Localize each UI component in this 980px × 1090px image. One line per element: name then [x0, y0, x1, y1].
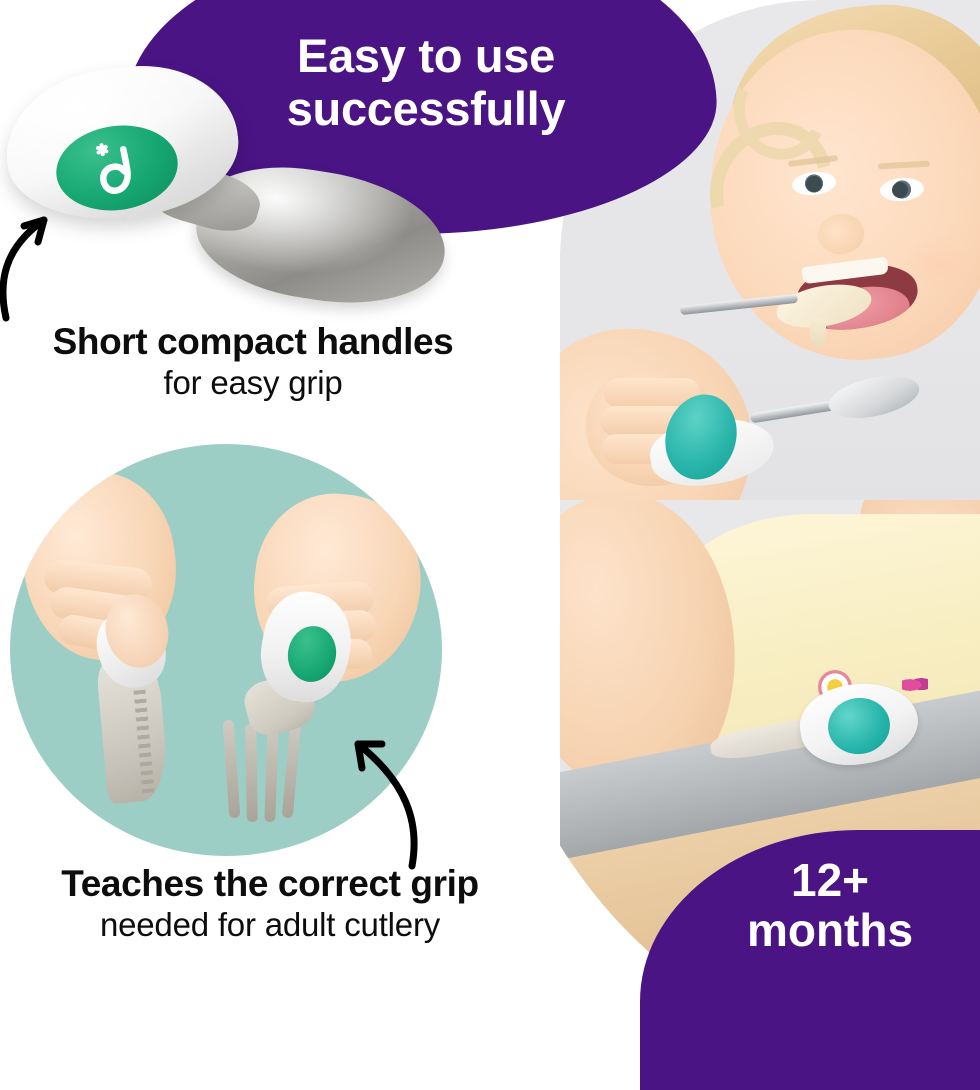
age-badge-text: 12+ months: [700, 856, 960, 955]
caption-1-regular: for easy grip: [0, 363, 506, 403]
caption-short-compact-handles: Short compact handles for easy grip: [0, 322, 506, 402]
headline-text: Easy to use successfully: [196, 30, 656, 135]
fork-tine: [245, 724, 258, 822]
caption-2-bold: Teaches the correct grip: [0, 864, 540, 905]
fork-tine: [264, 724, 278, 822]
child-pupil-right: [892, 182, 908, 198]
shirt-butterfly-icon: [902, 676, 928, 694]
caption-teaches-correct-grip: Teaches the correct grip needed for adul…: [0, 864, 540, 944]
food-drip: [810, 318, 826, 348]
fork-tine: [282, 720, 301, 819]
headline-line-2: successfully: [196, 83, 656, 136]
caption-1-bold: Short compact handles: [0, 322, 506, 363]
caption-2-regular: needed for adult cutlery: [0, 905, 540, 945]
fork-tine: [223, 720, 241, 819]
age-badge-line-1: 12+: [700, 856, 960, 906]
arrow-to-grip-icon: [330, 718, 500, 878]
headline-line-1: Easy to use: [196, 30, 656, 83]
child-pupil-left: [806, 176, 822, 192]
marketing-image: Easy to use successfully Short compact h…: [0, 0, 980, 1000]
age-badge-line-2: months: [700, 906, 960, 956]
arrow-to-handle-icon: [0, 186, 134, 326]
